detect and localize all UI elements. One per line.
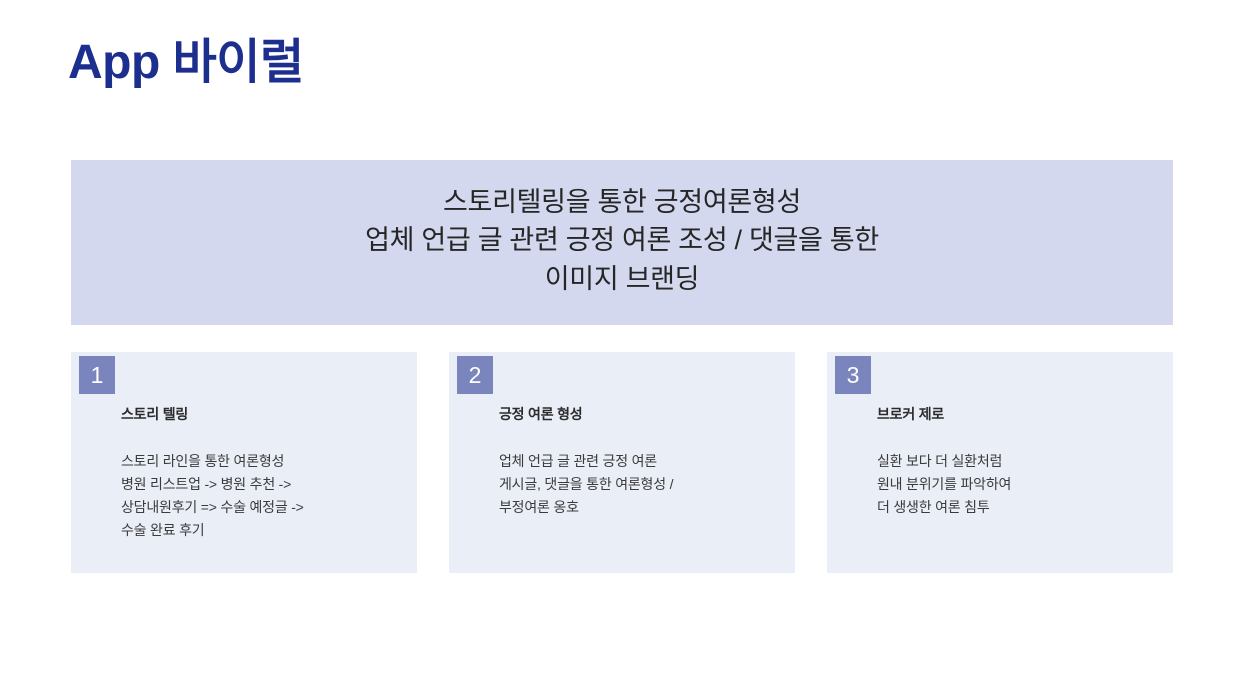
card-content: 스토리 텔링 스토리 라인을 통한 여론형성 병원 리스트업 -> 병원 추천 …: [121, 404, 403, 542]
card-content: 긍정 여론 형성 업체 언급 글 관련 긍정 여론 게시글, 댓글을 통한 여론…: [499, 404, 781, 519]
headline-banner: 스토리텔링을 통한 긍정여론형성 업체 언급 글 관련 긍정 여론 조성 / 댓…: [71, 160, 1173, 325]
card-number-badge: 1: [79, 356, 115, 394]
slide-root: App 바이럴 스토리텔링을 통한 긍정여론형성 업체 언급 글 관련 긍정 여…: [0, 0, 1240, 685]
banner-line-3: 이미지 브랜딩: [545, 260, 699, 298]
card-title: 스토리 텔링: [121, 404, 403, 424]
banner-line-1: 스토리텔링을 통한 긍정여론형성: [443, 183, 801, 221]
feature-card-2: 2 긍정 여론 형성 업체 언급 글 관련 긍정 여론 게시글, 댓글을 통한 …: [449, 352, 795, 573]
card-title: 긍정 여론 형성: [499, 404, 781, 424]
feature-card-1: 1 스토리 텔링 스토리 라인을 통한 여론형성 병원 리스트업 -> 병원 추…: [71, 352, 417, 573]
card-content: 브로커 제로 실환 보다 더 실환처럼 원내 분위기를 파악하여 더 생생한 여…: [877, 404, 1159, 519]
banner-line-2: 업체 언급 글 관련 긍정 여론 조성 / 댓글을 통한: [365, 221, 879, 259]
card-number-badge: 3: [835, 356, 871, 394]
card-description: 스토리 라인을 통한 여론형성 병원 리스트업 -> 병원 추천 -> 상담내원…: [121, 450, 403, 542]
feature-card-row: 1 스토리 텔링 스토리 라인을 통한 여론형성 병원 리스트업 -> 병원 추…: [71, 352, 1173, 573]
feature-card-3: 3 브로커 제로 실환 보다 더 실환처럼 원내 분위기를 파악하여 더 생생한…: [827, 352, 1173, 573]
card-description: 업체 언급 글 관련 긍정 여론 게시글, 댓글을 통한 여론형성 / 부정여론…: [499, 450, 781, 519]
card-number-badge: 2: [457, 356, 493, 394]
card-title: 브로커 제로: [877, 404, 1159, 424]
page-title: App 바이럴: [68, 34, 304, 92]
card-description: 실환 보다 더 실환처럼 원내 분위기를 파악하여 더 생생한 여론 침투: [877, 450, 1159, 519]
